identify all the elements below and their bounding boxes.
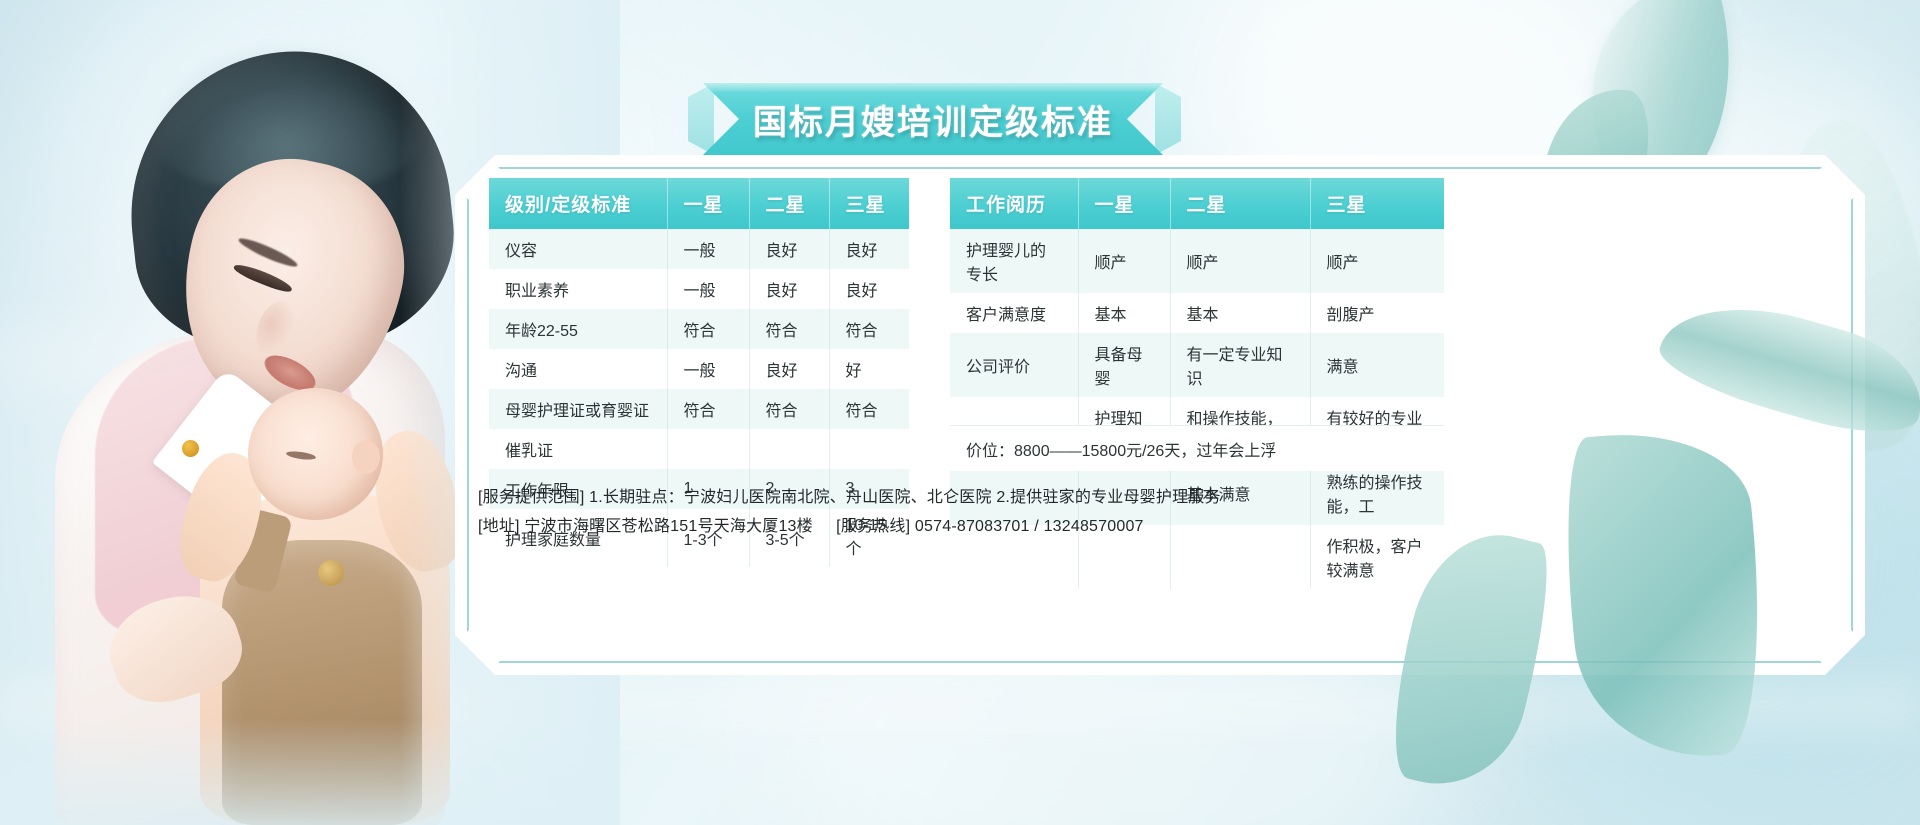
column-header-two-star: 二星: [1170, 178, 1310, 229]
caregiver-badge-pin: [182, 440, 199, 457]
cell-two-star: 良好: [749, 229, 829, 269]
cell-two-star: 顺产: [1170, 229, 1310, 293]
cell-three-star: 良好: [829, 229, 909, 269]
column-header-two-star: 二星: [749, 178, 829, 229]
cell-two-star: 符合: [749, 309, 829, 349]
cell-criteria: 仪容: [489, 229, 667, 269]
cell-three-star: 符合: [829, 389, 909, 429]
cell-two-star: 良好: [749, 349, 829, 389]
cell-three-star: 好: [829, 349, 909, 389]
price-row: 价位：8800——15800元/26天，过年会上浮: [950, 425, 1444, 471]
column-header-three-star: 三星: [829, 178, 909, 229]
table-row: 催乳证: [489, 429, 909, 469]
cell-one-star: 符合: [667, 309, 749, 349]
table-header-row: 级别/定级标准 一星 二星 三星: [489, 178, 909, 229]
cell-one-star: 符合: [667, 389, 749, 429]
cell-three-star: 满意: [1310, 333, 1444, 397]
cell-criteria: 母婴护理证或育婴证: [489, 389, 667, 429]
column-header-three-star: 三星: [1310, 178, 1444, 229]
table-row: 仪容 一般 良好 良好: [489, 229, 909, 269]
cell-two-star: 基本: [1170, 293, 1310, 333]
cell-three-star: 作积极，客户较满意: [1310, 525, 1444, 589]
cell-two-star: 良好: [749, 269, 829, 309]
price-text: 价位：8800——15800元/26天，过年会上浮: [966, 437, 1276, 461]
cell-one-star: [667, 429, 749, 469]
cell-one-star: 一般: [667, 229, 749, 269]
table-row: 职业素养 一般 良好 良好: [489, 269, 909, 309]
contact-line: [地址] 宁波市海曙区苍松路151号天海大厦13楼 [服务热线] 0574-87…: [478, 512, 1144, 536]
cell-two-star: [1170, 525, 1310, 589]
cell-criteria: 催乳证: [489, 429, 667, 469]
cell-three-star: 良好: [829, 269, 909, 309]
baby-overall-button: [318, 560, 344, 586]
banner-sheen: [703, 83, 1163, 93]
cell-one-star: 具备母婴: [1078, 333, 1170, 397]
cell-three-star: 剖腹产: [1310, 293, 1444, 333]
cell-two-star: 符合: [749, 389, 829, 429]
table-row: 沟通 一般 良好 好: [489, 349, 909, 389]
hotline-label: [服务热线]: [836, 518, 910, 535]
cell-criteria: 年龄22-55: [489, 309, 667, 349]
column-header-one-star: 一星: [667, 178, 749, 229]
address-label: [地址]: [478, 518, 520, 535]
cell-one-star: 一般: [667, 349, 749, 389]
column-header-criteria: 级别/定级标准: [489, 178, 667, 229]
table-row: 护理婴儿的专长 顺产 顺产 顺产: [950, 229, 1444, 293]
cell-one-star: 顺产: [1078, 229, 1170, 293]
cell-experience: 护理婴儿的专长: [950, 229, 1078, 293]
cell-two-star: 有一定专业知识: [1170, 333, 1310, 397]
table-header-row: 工作阅历 一星 二星 三星: [950, 178, 1444, 229]
cell-three-star: 顺产: [1310, 229, 1444, 293]
cell-criteria: 职业素养: [489, 269, 667, 309]
cell-three-star: [829, 429, 909, 469]
grading-standard-table: 级别/定级标准 一星 二星 三星 仪容 一般 良好 良好 职业素养 一般 良好 …: [489, 178, 909, 567]
table-row: 公司评价 具备母婴 有一定专业知识 满意: [950, 333, 1444, 397]
cell-one-star: 基本: [1078, 293, 1170, 333]
cell-one-star: 一般: [667, 269, 749, 309]
hotline-value: 0574-87083701 / 13248570007: [915, 518, 1144, 535]
table-row: 母婴护理证或育婴证 符合 符合 符合: [489, 389, 909, 429]
photo-bottom-fade: [0, 719, 620, 825]
cell-experience: 公司评价: [950, 333, 1078, 397]
column-header-one-star: 一星: [1078, 178, 1170, 229]
page-title: 国标月嫂培训定级标准: [753, 95, 1113, 144]
title-banner: 国标月嫂培训定级标准: [703, 83, 1163, 155]
service-scope-text: [服务提供范围] 1.长期驻点：宁波妇儿医院南北院、舟山医院、北仑医院 2.提供…: [478, 483, 1221, 507]
address-value: 宁波市海曙区苍松路151号天海大厦13楼: [524, 518, 813, 535]
table-row: 年龄22-55 符合 符合 符合: [489, 309, 909, 349]
column-header-experience: 工作阅历: [950, 178, 1078, 229]
cell-three-star: 符合: [829, 309, 909, 349]
cell-two-star: [749, 429, 829, 469]
cell-criteria: 沟通: [489, 349, 667, 389]
baby-ear: [352, 440, 380, 474]
cell-experience: 客户满意度: [950, 293, 1078, 333]
table-row: 客户满意度 基本 基本 剖腹产: [950, 293, 1444, 333]
